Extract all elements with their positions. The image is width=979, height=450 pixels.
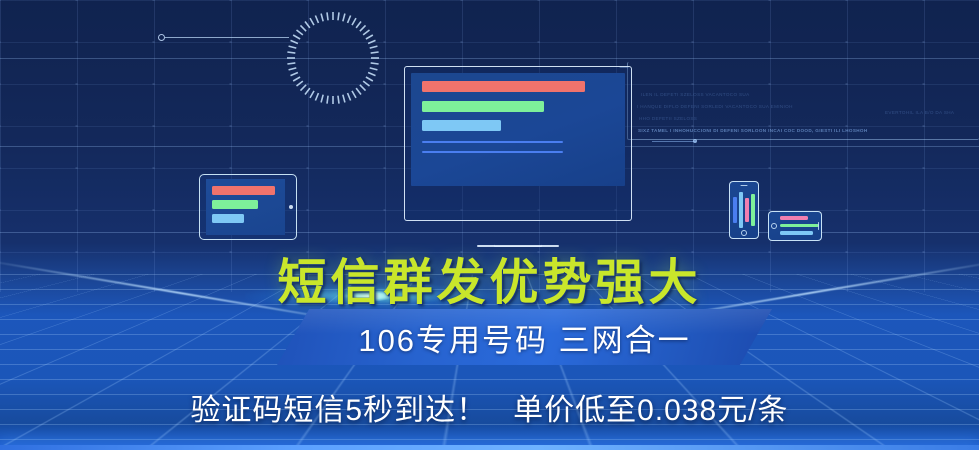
phone-bar [780,231,813,235]
tablet-screen [206,179,285,235]
ticked-circle-decoration [283,8,383,108]
monitor-bar [422,101,544,112]
monitor-screen [411,73,625,186]
tablet-bar [212,214,244,223]
ribbon-label: 106专用号码 三网合一 [277,309,772,365]
monitor-bar [422,81,585,92]
headline-title: 短信群发优势强大 [0,243,979,314]
tablet-bar [212,186,275,195]
decor-text: I HANQUE DIFLO DEFENI SORLEDI VACANTOCO … [637,104,793,109]
phone-home-button [771,223,777,229]
phone-bar [751,194,755,225]
grid-horizon-line [0,232,979,233]
phone-bar [780,224,819,228]
monitor-line [422,141,563,143]
decor-dot [693,139,697,143]
subline-left: 验证码短信5秒到达！ [190,394,487,427]
bottom-accent-strip [0,445,979,450]
promo-banner: ILEN IL DEFETI SZELOSS VACANTOCO SUA I H… [0,0,979,450]
circle-lead-line [165,37,289,38]
monitor-line [422,151,563,153]
decor-underline [652,141,696,142]
phone-bar [739,192,743,228]
circle-anchor-dot [158,34,165,41]
decor-text: ILEN IL DEFETI SZELOSS VACANTOCO SUA [641,92,750,97]
phone-home-button [741,230,747,236]
phone-bar [780,216,808,220]
decor-text: EVERTOHIL ILA B/O DA SHA [885,110,954,115]
subline-right: 单价低至0.038元/条 [513,394,788,427]
subline-row: 验证码短信5秒到达！单价低至0.038元/条 [0,385,979,429]
desktop-monitor [404,66,632,221]
tablet-bar [212,200,258,209]
tablet-home-button [289,205,293,209]
grid-horizon-line [0,58,979,59]
decor-text: SIXZ TAMEL I INHOHUCCIONI DI DEFENI SORL… [638,128,868,133]
monitor-bar [422,120,501,131]
phone-bar [733,197,737,224]
decor-frame [619,0,629,68]
phone-bar [745,198,749,221]
phone-vertical [729,181,759,239]
tablet-device [199,174,297,240]
phone-horizontal [768,211,822,241]
decor-text: HHO DEFETII SZELOSS [639,116,697,121]
